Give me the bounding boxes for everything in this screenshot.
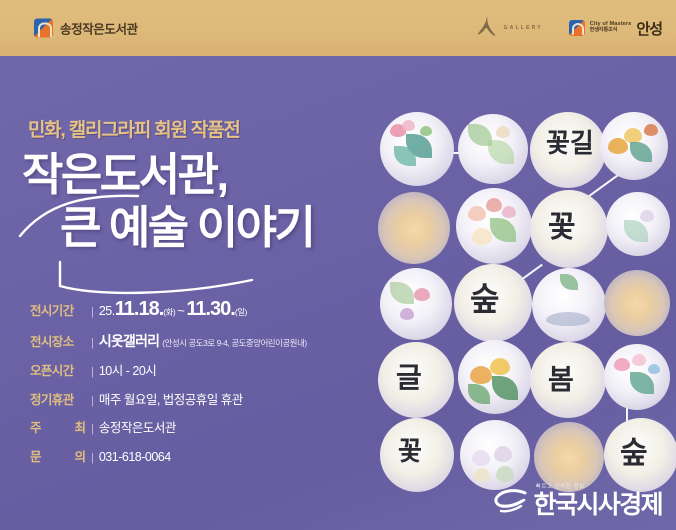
gallery-logo: GALLERY (477, 16, 543, 40)
info-separator: | (91, 423, 94, 435)
brush-person-icon (477, 16, 497, 40)
period-end-dow: (일) (235, 307, 247, 317)
period-end-date: 11.30. (186, 298, 235, 320)
info-label-period: 전시기간 (30, 300, 86, 319)
info-value-closed: 매주 월요일, 법정공휴일 휴관 (99, 389, 243, 408)
anseong-text-block: City of Masters 한생각통조식 (590, 22, 632, 33)
artwork-circle[interactable]: 봄 (530, 342, 606, 418)
artwork-circle[interactable] (532, 268, 606, 342)
anseong-city-name: 안성 (636, 18, 662, 39)
artwork-circle[interactable] (458, 114, 528, 184)
poster-header: 송정작은도서관 GALLERY City of Masters 한생각통조식 안… (0, 0, 676, 56)
info-separator: | (91, 366, 94, 378)
artwork-circle[interactable] (606, 192, 670, 256)
artwork-ink: 꽃 (548, 214, 576, 243)
press-logo: 빠르고 신속한 정보 한국시사경제 (494, 485, 662, 518)
artwork-circle[interactable] (604, 344, 670, 410)
artwork-circle[interactable]: 글 (378, 342, 454, 418)
info-value-host: 송정작은도서관 (99, 417, 176, 436)
exhibition-poster: 송정작은도서관 GALLERY City of Masters 한생각통조식 안… (0, 0, 676, 530)
anseong-mark-icon (569, 20, 585, 36)
venue-address: (안성시 공도3로 9-4, 공도중앙어린이공원내) (162, 338, 307, 348)
info-row-venue: 전시장소 | 시옷갤러리(안성시 공도3로 9-4, 공도중앙어린이공원내) (30, 331, 360, 351)
artwork-circle[interactable] (456, 188, 532, 264)
venue-name: 시옷갤러리 (99, 333, 159, 349)
info-label-venue: 전시장소 (30, 331, 86, 350)
host-label-char-2: 최 (74, 417, 86, 436)
info-row-period: 전시기간 | 25.11.18.(화)~11.30.(일) (30, 298, 360, 321)
period-year: 25. (99, 304, 115, 318)
contact-label-char-1: 문 (30, 446, 42, 465)
press-text-block: 빠르고 신속한 정보 한국시사경제 (534, 485, 662, 518)
header-sponsor-logos: GALLERY City of Masters 한생각통조식 안성 (477, 16, 662, 40)
info-row-closed: 정기휴관 | 매주 월요일, 법정공휴일 휴관 (30, 389, 360, 408)
info-value-period: 25.11.18.(화)~11.30.(일) (99, 298, 247, 321)
artwork-ink: 꽃길 (546, 132, 594, 157)
press-name: 한국시사경제 (534, 493, 662, 518)
contact-label-char-2: 의 (74, 446, 86, 465)
period-start-dow: (화) (163, 307, 175, 317)
library-name: 송정작은도서관 (60, 19, 138, 38)
artwork-ink: 글 (396, 366, 422, 393)
info-separator: | (91, 395, 94, 407)
poster-title: 작은도서관, 큰 예술 이야기 (22, 152, 372, 250)
artwork-circle[interactable] (380, 112, 454, 186)
info-separator: | (91, 452, 94, 464)
period-tilde: ~ (177, 303, 184, 318)
artwork-circle[interactable] (604, 270, 670, 336)
artwork-circle[interactable] (534, 422, 604, 492)
period-start-date: 11.18. (115, 298, 164, 320)
anseong-kr-line: 한생각통조식 (590, 28, 632, 33)
artwork-circle[interactable] (378, 192, 450, 264)
header-library-logo: 송정작은도서관 (34, 19, 138, 38)
info-label-contact: 문의 (30, 446, 86, 465)
artwork-ink: 꽃 (398, 440, 422, 465)
title-line-1: 작은도서관, (22, 152, 372, 197)
artwork-circle[interactable] (460, 420, 530, 490)
info-separator: | (91, 337, 94, 349)
info-list: 전시기간 | 25.11.18.(화)~11.30.(일) 전시장소 | 시옷갤… (30, 298, 360, 474)
poster-subtitle: 민화, 캘리그라피 회원 작품전 (28, 115, 240, 142)
artwork-ink: 숲 (620, 440, 648, 469)
artwork-circle[interactable] (380, 268, 452, 340)
host-label-char-1: 주 (30, 417, 42, 436)
info-value-contact: 031-618-0064 (99, 450, 171, 464)
artwork-grid: 꽃길 꽃 (378, 112, 670, 474)
info-label-host: 주최 (30, 417, 86, 436)
info-label-hours: 오픈시간 (30, 360, 86, 379)
info-row-host: 주최 | 송정작은도서관 (30, 417, 360, 436)
artwork-ink: 숲 (470, 284, 499, 314)
title-line-2: 큰 예술 이야기 (60, 205, 372, 250)
gallery-wordmark: GALLERY (504, 25, 543, 31)
info-row-contact: 문의 | 031-618-0064 (30, 446, 360, 465)
artwork-circle[interactable]: 숲 (454, 264, 532, 342)
info-label-closed: 정기휴관 (30, 389, 86, 408)
artwork-circle[interactable]: 꽃 (530, 190, 608, 268)
artwork-circle[interactable] (458, 340, 532, 414)
library-mark-icon (34, 19, 53, 38)
artwork-circle[interactable]: 숲 (604, 418, 676, 492)
artwork-ink: 봄 (548, 368, 574, 395)
info-value-venue: 시옷갤러리(안성시 공도3로 9-4, 공도중앙어린이공원내) (99, 331, 307, 351)
info-row-hours: 오픈시간 | 10시 - 20시 (30, 360, 360, 379)
artwork-circle[interactable]: 꽃길 (530, 112, 606, 188)
info-separator: | (91, 306, 94, 318)
info-value-hours: 10시 - 20시 (99, 360, 156, 379)
anseong-city-logo: City of Masters 한생각통조식 안성 (569, 18, 662, 39)
artwork-circle[interactable] (600, 112, 668, 180)
wave-swirl-icon (494, 488, 528, 516)
artwork-circle[interactable]: 꽃 (380, 418, 454, 492)
